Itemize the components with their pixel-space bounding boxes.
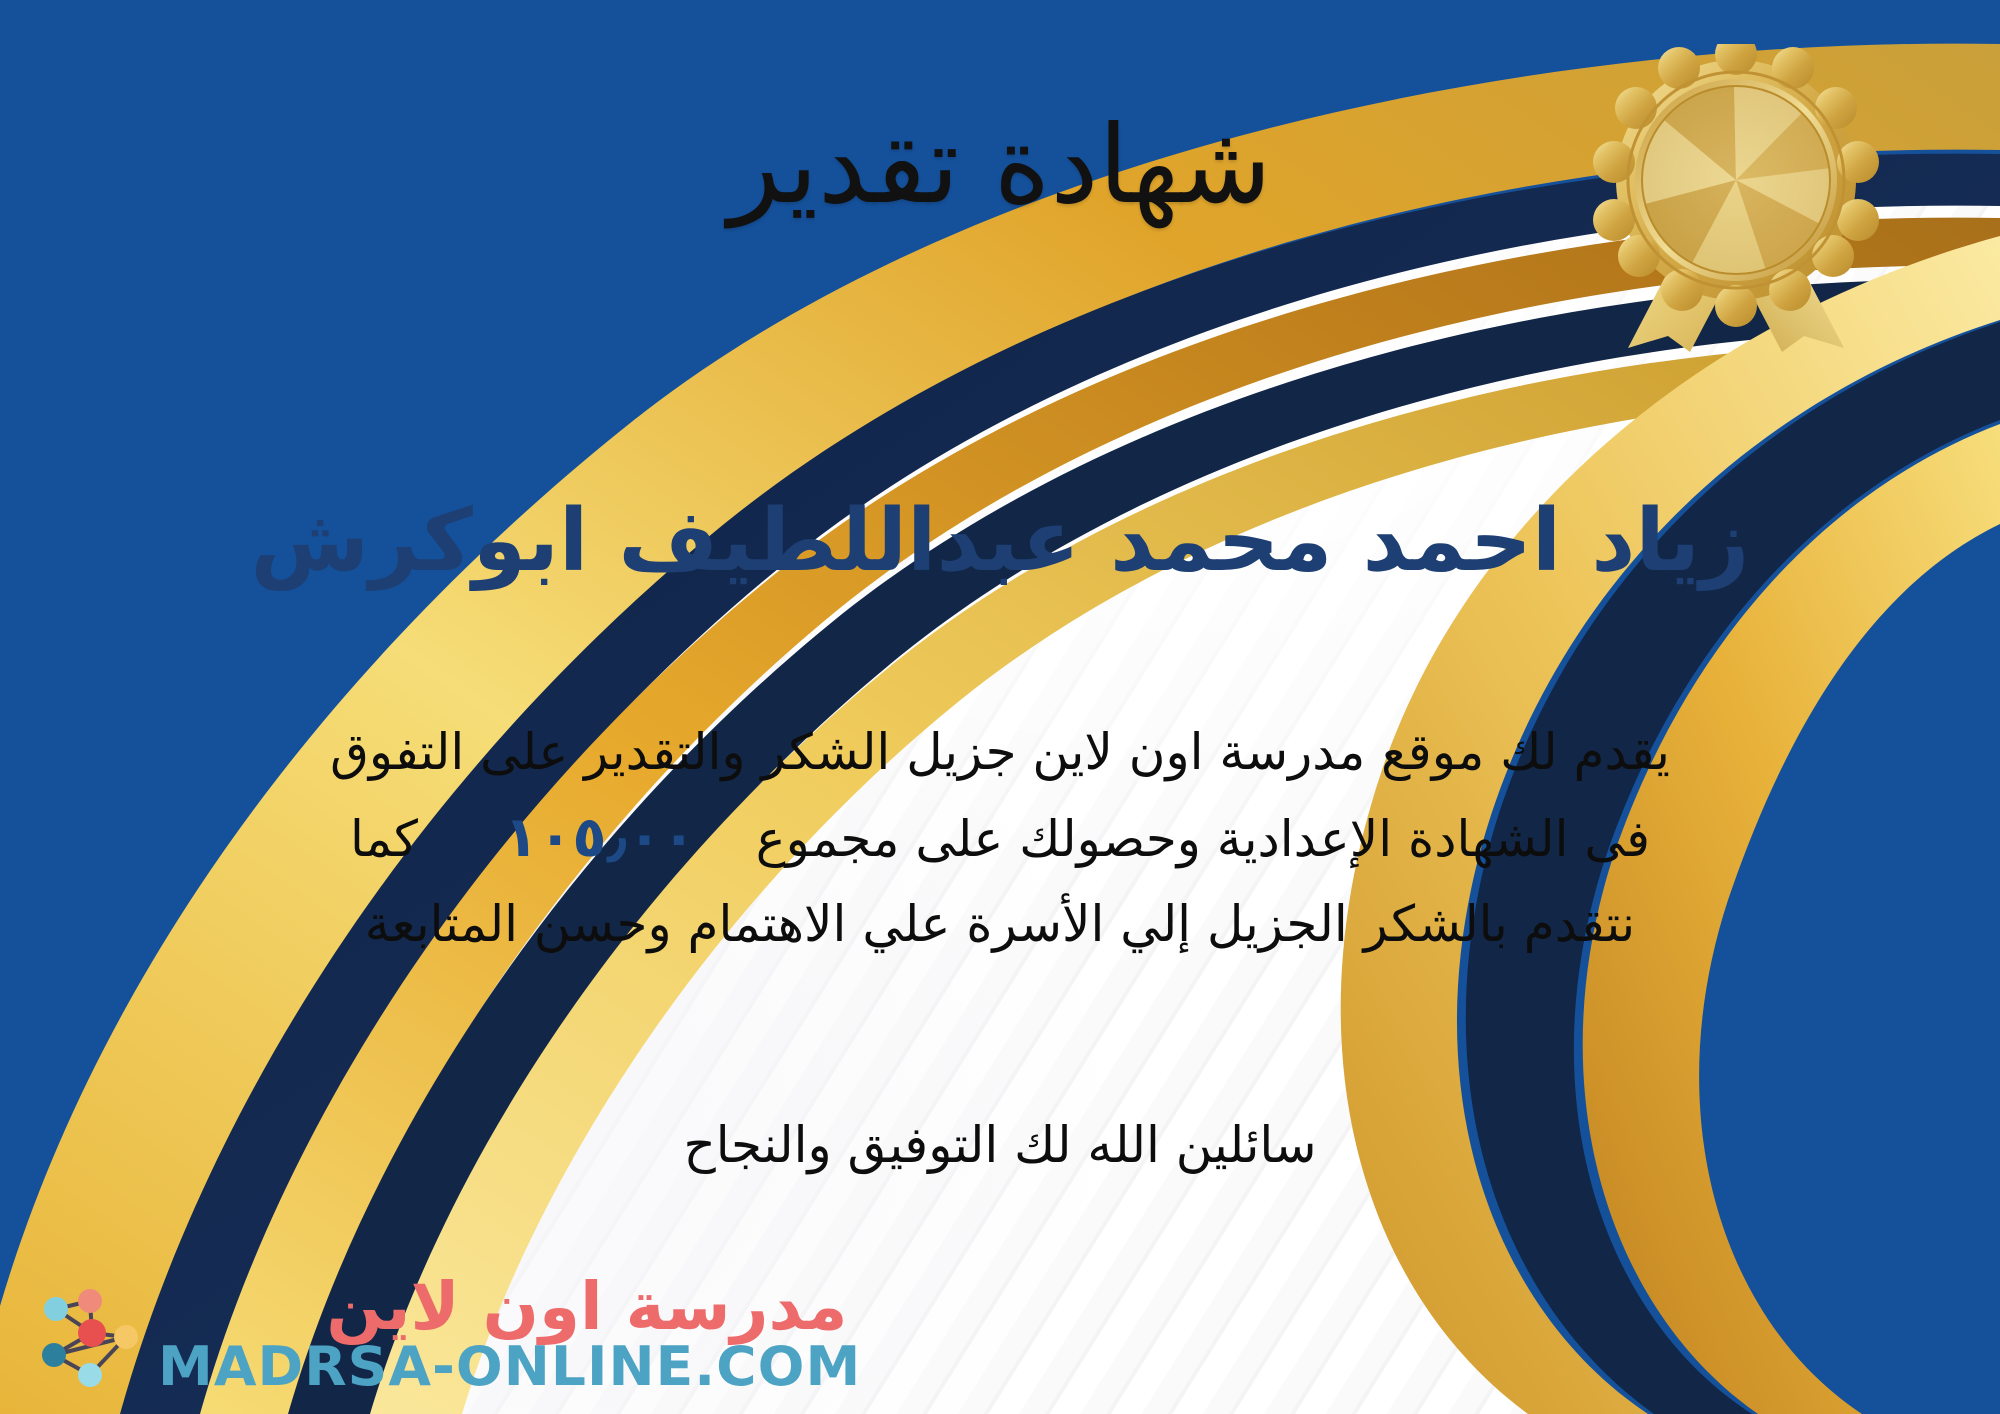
student-name: زياد احمد محمد عبداللطيف ابوكرش — [0, 490, 2000, 593]
certificate-body: يقدم لك موقع مدرسة اون لاين جزيل الشكر و… — [60, 712, 1940, 965]
gold-award-rosette-icon — [1590, 44, 1882, 354]
certificate-canvas: شهادة تقدير زياد احمد محمد عبداللطيف ابو… — [0, 0, 2000, 1414]
closing-wish: سائلين الله لك التوفيق والنجاح — [0, 1108, 2000, 1183]
site-logo[interactable]: مدرسة اون لاين MADRSA-ONLINE.COM — [26, 1274, 848, 1394]
logo-domain: MADRSA-ONLINE.COM — [158, 1340, 861, 1394]
network-nodes-icon — [26, 1275, 144, 1393]
body-line-1: يقدم لك موقع مدرسة اون لاين جزيل الشكر و… — [60, 712, 1940, 793]
body-line-2-suffix: كما — [350, 799, 444, 880]
body-line-2-prefix: فى الشهادة الإعدادية وحصولك على مجموع — [756, 799, 1650, 880]
logo-arabic-name: مدرسة اون لاين — [326, 1274, 847, 1340]
grade-total-value: ١٠٥٫٠٠ — [470, 793, 730, 884]
body-line-3: نتقدم بالشكر الجزيل إلي الأسرة علي الاهت… — [60, 884, 1940, 965]
logo-text-block: مدرسة اون لاين MADRSA-ONLINE.COM — [158, 1274, 848, 1394]
body-line-2: فى الشهادة الإعدادية وحصولك على مجموع ١٠… — [60, 793, 1940, 884]
